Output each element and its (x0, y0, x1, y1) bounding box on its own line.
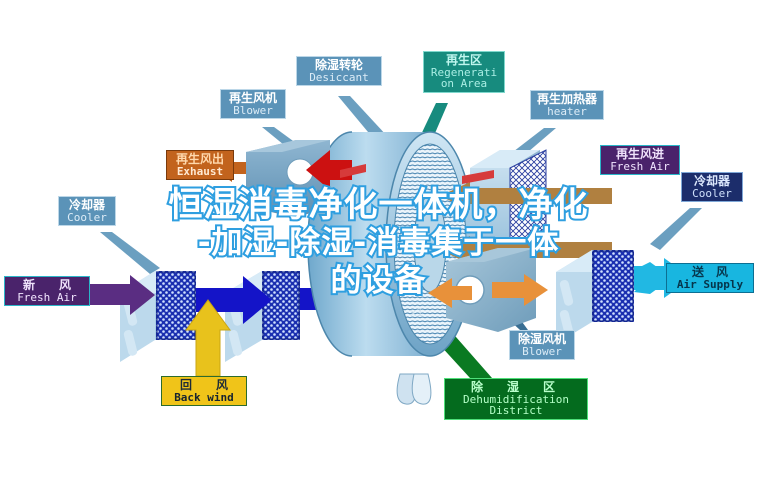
label-regeneration-heater-cn: 再生加热器 (535, 93, 599, 106)
label-dehumidification-blower[interactable]: 除湿风机 Blower (509, 330, 575, 360)
label-cooler-left-cn: 冷却器 (63, 199, 111, 212)
label-dehumidification-blower-en: Blower (514, 346, 570, 358)
svg-text:x1: x1 (410, 306, 424, 319)
label-cooler-left-en: Cooler (63, 212, 111, 224)
label-regeneration-area[interactable]: 再生区 Regenerati on Area (423, 51, 505, 93)
label-air-supply[interactable]: 送 风 Air Supply (666, 263, 754, 293)
label-air-supply-en: Air Supply (671, 279, 749, 291)
label-regeneration-blower[interactable]: 再生风机 Blower (220, 89, 286, 119)
label-dehumidification-district[interactable]: 除 湿 区 Dehumidification District (444, 378, 588, 420)
label-regeneration-area-cn: 再生区 (428, 54, 500, 67)
label-fresh-air-left-cn: 新 风 (9, 279, 85, 292)
leader-cooler-right (650, 208, 702, 250)
label-fresh-air-left[interactable]: 新 风 Fresh Air (4, 276, 90, 306)
cooler-coil-mid (262, 271, 300, 340)
label-fresh-air-regeneration[interactable]: 再生风进 Fresh Air (600, 145, 680, 175)
label-regeneration-exhaust-en: Exhaust (171, 166, 229, 178)
label-desiccant-rotor-en: Desiccant (301, 72, 377, 84)
label-back-wind[interactable]: 回 风 Back wind (161, 376, 247, 406)
label-regeneration-heater[interactable]: 再生加热器 heater (530, 90, 604, 120)
label-desiccant-rotor[interactable]: 除湿转轮 Desiccant (296, 56, 382, 86)
rotor-drive-belt (397, 374, 431, 404)
label-fresh-air-left-en: Fresh Air (9, 292, 85, 304)
label-fresh-air-regeneration-en: Fresh Air (605, 161, 675, 173)
label-cooler-left[interactable]: 冷却器 Cooler (58, 196, 116, 226)
label-regeneration-area-en-line2: on Area (428, 78, 500, 90)
cooler-coil-right (592, 250, 634, 322)
label-regeneration-heater-en: heater (535, 106, 599, 118)
label-cooler-right-en: Cooler (686, 188, 738, 200)
label-back-wind-cn: 回 风 (166, 379, 242, 392)
label-regeneration-blower-en: Blower (225, 105, 281, 117)
label-dehumidification-blower-cn: 除湿风机 (514, 333, 570, 346)
label-cooler-right[interactable]: 冷却器 Cooler (681, 172, 743, 202)
label-fresh-air-regeneration-cn: 再生风进 (605, 148, 675, 161)
label-air-supply-cn: 送 风 (671, 266, 749, 279)
leader-cooler-left (100, 232, 160, 274)
label-back-wind-en: Back wind (166, 392, 242, 404)
label-dehumidification-district-cn: 除 湿 区 (449, 381, 583, 394)
label-regeneration-exhaust[interactable]: 再生风出 Exhaust (166, 150, 234, 180)
schematic-canvas: x1 (0, 0, 757, 488)
label-regeneration-exhaust-cn: 再生风出 (171, 153, 229, 166)
label-regeneration-blower-cn: 再生风机 (225, 92, 281, 105)
label-dehumidification-district-en-line2: District (449, 405, 583, 417)
label-cooler-right-cn: 冷却器 (686, 175, 738, 188)
label-desiccant-rotor-cn: 除湿转轮 (301, 59, 377, 72)
